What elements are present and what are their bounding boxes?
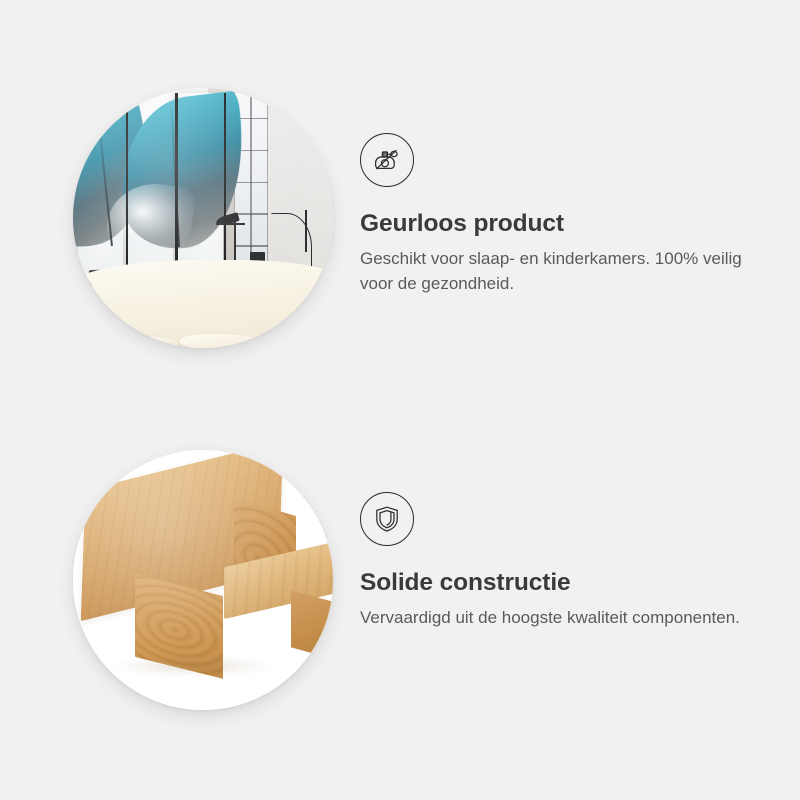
feature-block-odourless: Geurloos product Geschikt voor slaap- en…	[0, 88, 800, 356]
pillow	[80, 334, 180, 348]
wood-beam-right-endgrain	[291, 590, 333, 658]
product-feature-panel: Geurloos product Geschikt voor slaap- en…	[0, 0, 800, 800]
pendant-rod	[305, 210, 307, 252]
feature-image-odourless	[73, 88, 333, 348]
feature-title: Solide constructie	[360, 569, 760, 597]
frame-divider-2	[175, 93, 178, 280]
wood-scene	[73, 450, 333, 710]
feature-block-solid-construction: Solide constructie Vervaardigd uit de ho…	[0, 450, 800, 718]
feature-text-odourless: Geurloos product Geschikt voor slaap- en…	[360, 133, 760, 296]
pillow	[179, 333, 267, 348]
frame-divider-3	[224, 93, 227, 280]
feature-image-solid-construction	[73, 450, 333, 710]
bed-duvet	[73, 260, 333, 348]
feature-text-solid-construction: Solide constructie Vervaardigd uit de ho…	[360, 492, 760, 631]
feature-description: Geschikt voor slaap- en kinderkamers. 10…	[360, 247, 750, 296]
bedroom-scene	[73, 88, 333, 348]
bedroom-feather-wall-art-photo	[73, 88, 333, 348]
feather-triptych	[78, 93, 229, 280]
feature-title: Geurloos product	[360, 210, 760, 238]
wooden-beams-photo	[73, 450, 333, 710]
feature-description: Vervaardigd uit de hoogste kwaliteit com…	[360, 606, 750, 631]
no-perfume-icon	[360, 133, 414, 187]
wood-shadow	[99, 653, 286, 679]
frame-divider-1	[126, 93, 129, 280]
shield-icon	[360, 492, 414, 546]
pillow	[260, 328, 333, 348]
desk-lamp-arm	[216, 223, 245, 225]
